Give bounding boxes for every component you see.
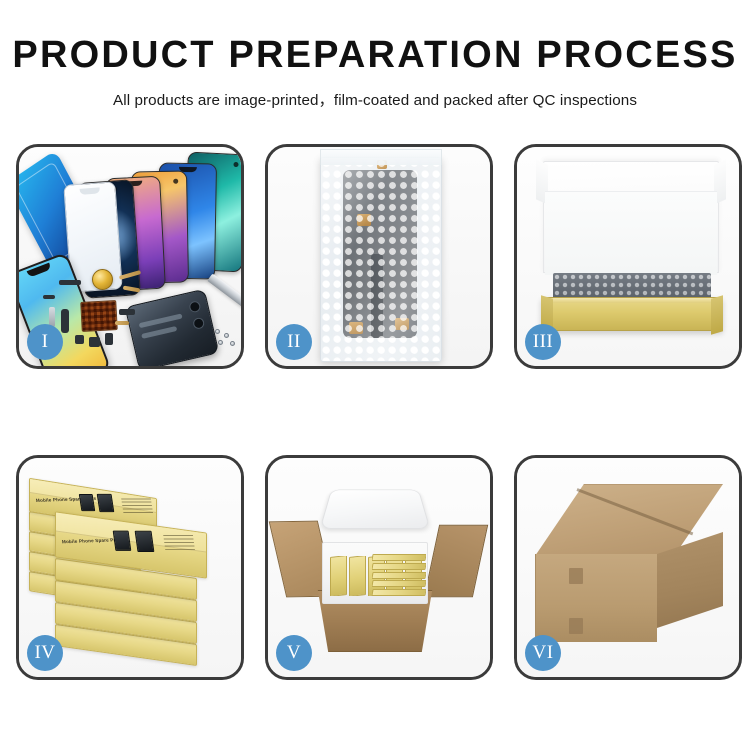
scene-bubble-wrapped-screen: II	[268, 147, 490, 366]
carton-tape-lower	[569, 618, 583, 634]
retail-box-textlines-1	[121, 497, 153, 513]
connector-tab-left	[349, 322, 363, 334]
scene-open-kraft-box: III	[517, 147, 739, 366]
step-badge-4: IV	[27, 635, 63, 671]
part-chip-2	[89, 337, 100, 347]
retail-box-thumb-1b	[97, 494, 115, 512]
foam-inner-wall	[545, 191, 717, 275]
page-subtitle: All products are image-printed，film-coat…	[0, 88, 750, 110]
retail-box-textlines-2	[163, 534, 195, 550]
panel-step-3: III	[514, 144, 742, 369]
scene-carton-with-styrofoam: V	[268, 458, 490, 677]
panel-step-1: I	[16, 144, 244, 369]
tweezers-tool	[207, 273, 241, 309]
part-flex-strip	[61, 309, 69, 333]
product-preparation-process-page: PRODUCT PREPARATION PROCESS All products…	[0, 0, 750, 750]
flex-cable-3	[115, 321, 129, 325]
screen-flex-cable	[371, 254, 383, 338]
retail-box-thumb-1a	[79, 494, 95, 511]
connector-tab-top	[357, 214, 371, 226]
bubble-wrap-bag	[320, 157, 442, 362]
carton-flap-right	[424, 525, 488, 597]
step-badge-3: III	[525, 324, 561, 360]
part-small-bar	[43, 295, 55, 299]
styrofoam-lid	[319, 490, 430, 529]
panel-step-4: Mobile Phone Spare Parts Mobile Phone Sp…	[16, 455, 244, 680]
scene-phone-parts-flatlay: I	[19, 147, 241, 366]
gold-coil-part	[92, 269, 113, 290]
step-badge-2: II	[276, 324, 312, 360]
copper-shield-grid	[80, 300, 118, 332]
process-step-grid: I II	[16, 144, 742, 738]
scene-stacked-retail-boxes: Mobile Phone Spare Parts Mobile Phone Sp…	[19, 458, 241, 677]
scene-sealed-shipping-carton: VI	[517, 458, 739, 677]
kraft-box-base	[541, 297, 723, 331]
part-chip-1	[75, 335, 84, 344]
screws-group	[215, 329, 239, 347]
part-connector-bar	[59, 280, 81, 285]
page-title: PRODUCT PREPARATION PROCESS	[0, 36, 750, 76]
retail-box-thumb-2b	[135, 531, 155, 552]
yellow-boxes-right-group	[372, 554, 426, 596]
phone-back-housing	[125, 289, 220, 366]
carton-tape-upper	[569, 568, 583, 584]
panel-step-6: VI	[514, 455, 742, 680]
page-header: PRODUCT PREPARATION PROCESS All products…	[0, 0, 750, 110]
panel-step-2: II	[265, 144, 493, 369]
carton-front-face	[535, 554, 657, 642]
step-badge-5: V	[276, 635, 312, 671]
bubble-bag-seal	[320, 149, 442, 165]
panel-step-5: V	[265, 455, 493, 680]
part-chip-3	[105, 333, 113, 345]
connector-tab-right	[395, 318, 409, 330]
step-badge-1: I	[27, 324, 63, 360]
step-badge-6: VI	[525, 635, 561, 671]
retail-box-thumb-2a	[113, 531, 132, 551]
part-speaker	[119, 309, 135, 315]
